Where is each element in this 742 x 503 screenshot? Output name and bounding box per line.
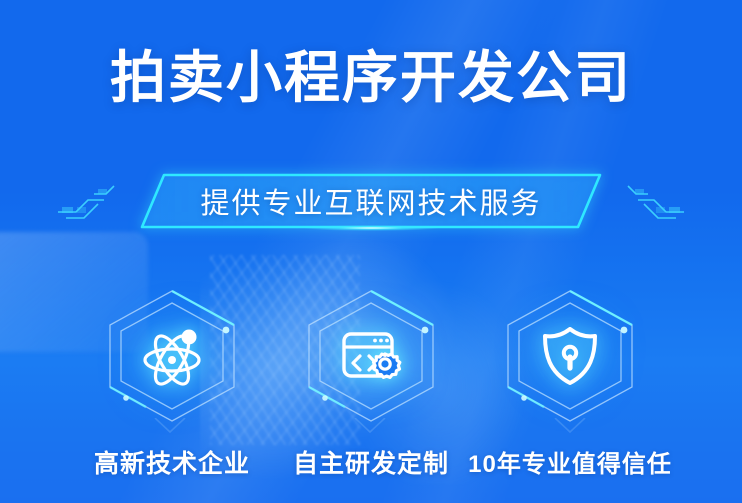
feature-item: 高新技术企业: [102, 288, 242, 480]
feature-hexagon: [102, 288, 242, 424]
tech-lines-right-decoration-icon: [610, 180, 688, 222]
promo-banner: 拍卖小程序开发公司: [0, 0, 742, 503]
feature-label: 高新技术企业: [94, 444, 250, 480]
subtitle-row: 提供专业互联网技术服务: [0, 168, 742, 234]
page-title: 拍卖小程序开发公司: [110, 47, 632, 109]
features-list: 高新技术企业: [0, 288, 742, 480]
tech-lines-left-decoration-icon: [54, 180, 132, 222]
feature-item: 10年专业值得信任: [500, 288, 640, 479]
page-subtitle: 提供专业互联网技术服务: [200, 180, 541, 222]
feature-hexagon: [500, 288, 640, 424]
feature-label: 10年专业值得信任: [468, 444, 672, 479]
shield-lock-icon: [534, 320, 606, 392]
subtitle-banner: 提供专业互联网技术服务: [140, 173, 602, 229]
feature-hexagon: [301, 288, 441, 424]
title-container: 拍卖小程序开发公司: [0, 47, 742, 109]
code-window-gear-icon: [335, 320, 407, 392]
atom-icon: [136, 320, 208, 392]
feature-item: 自主研发定制: [301, 288, 441, 480]
feature-label: 自主研发定制: [293, 444, 449, 480]
